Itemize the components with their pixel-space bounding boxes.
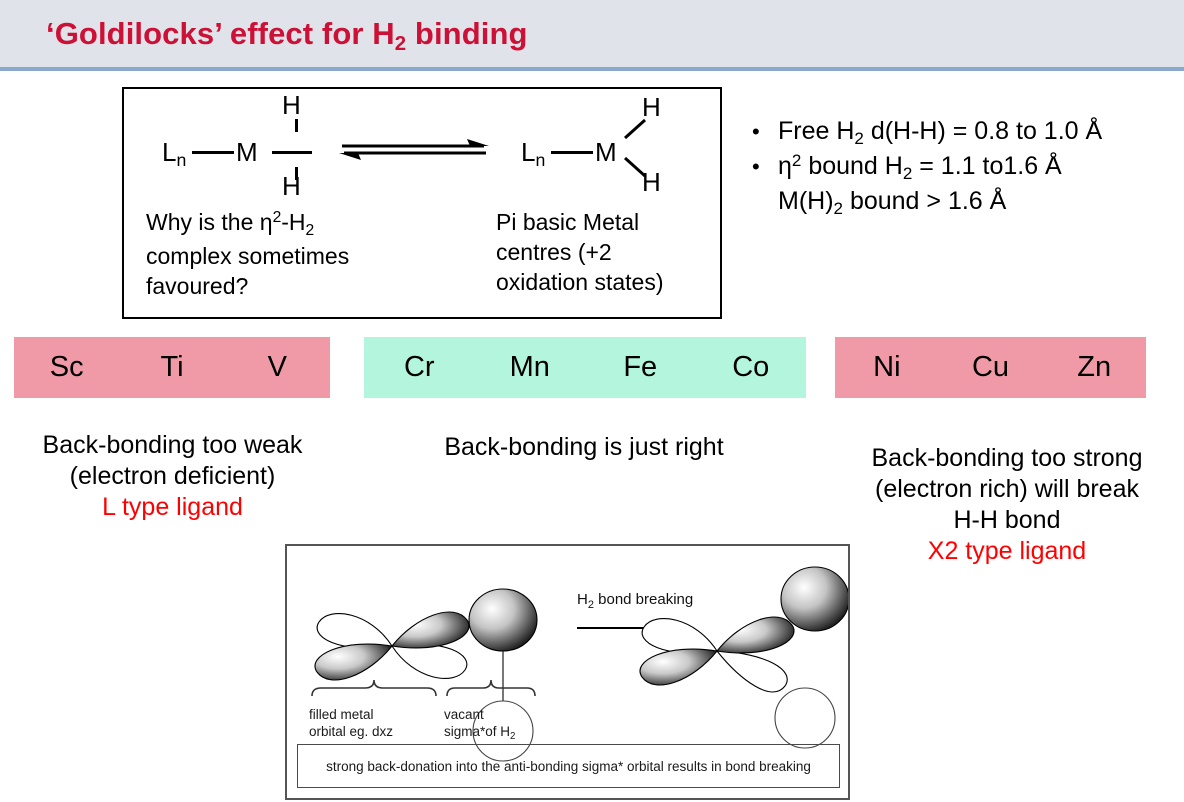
h-atom-sphere-shaded-right — [781, 567, 848, 631]
element-fe: Fe — [585, 351, 696, 384]
bullet2-eta: η — [778, 152, 792, 180]
arrow-label-h2-bond-breaking: H2 bond breaking — [577, 591, 693, 611]
d-orbital-left — [315, 612, 469, 680]
right-ligand-n: n — [535, 150, 545, 170]
element-bar-weak-backbonding: Sc Ti V — [14, 337, 330, 398]
caption-right-ligand-type: X2 type ligand — [830, 536, 1184, 567]
question-eta: η — [260, 209, 273, 235]
label-vacant-line1: vacant — [444, 706, 515, 723]
reaction-question-line3: favoured? — [146, 271, 349, 301]
bullet2cont-pre: M(H) — [778, 187, 834, 215]
element-bar-strong-backbonding: Ni Cu Zn — [835, 337, 1146, 398]
element-ni: Ni — [835, 351, 939, 384]
bullet2-post: = 1.1 to1.6 Å — [912, 152, 1061, 180]
reaction-answer-line2: centres (+2 — [496, 237, 663, 267]
d-orbital-right — [640, 617, 794, 692]
caption-left-ligand-type: L type ligand — [0, 492, 345, 523]
brace-vacant-sigma-star — [447, 680, 535, 696]
bond-ln-m-right — [551, 151, 593, 154]
caption-strong-backbonding: Back-bonding too strong (electron rich) … — [830, 443, 1184, 567]
bond-ln-m-left — [192, 151, 234, 154]
label-filled-metal-orbital: filled metal orbital eg. dxz — [309, 706, 393, 740]
right-ligand-label: Ln — [521, 137, 545, 168]
page-title-post: binding — [406, 16, 527, 51]
element-co: Co — [696, 351, 807, 384]
h-atom-sphere-white-right — [775, 688, 835, 748]
bullet2-mid: bound H — [801, 152, 902, 180]
element-cr: Cr — [364, 351, 475, 384]
bullet-text-free-h2: Free H2 d(H-H) = 0.8 to 1.0 Å — [778, 115, 1182, 150]
left-h-bottom: H — [282, 171, 301, 202]
right-metal-label: M — [595, 137, 617, 168]
label-vacant-sub: 2 — [510, 731, 515, 742]
element-mn: Mn — [475, 351, 586, 384]
caption-right-line1: Back-bonding too strong — [830, 443, 1184, 474]
bullet-text-eta2-bound: η2 bound H2 = 1.1 to1.6 Å — [778, 150, 1182, 185]
orbital-footer-caption-box: strong back-donation into the anti-bondi… — [297, 744, 840, 788]
label-vacant-line2: sigma*of H2 — [444, 723, 515, 742]
bullet-marker-icon: • — [752, 115, 778, 148]
page-title: ‘Goldilocks’ effect for H2 binding — [46, 16, 528, 52]
caption-left-line2: (electron deficient) — [0, 461, 345, 492]
bullet2cont-sub: 2 — [834, 199, 843, 218]
left-metal-label: M — [236, 137, 258, 168]
right-ligand-l: L — [521, 137, 535, 167]
element-bar-just-right: Cr Mn Fe Co — [364, 337, 806, 398]
reaction-scheme-box: Ln M H H Ln M H H Why is the η2-H2 compl… — [122, 87, 722, 319]
question-eta-sup: 2 — [273, 209, 282, 226]
left-ligand-n: n — [176, 150, 186, 170]
equilibrium-arrow — [334, 133, 494, 169]
caption-weak-backbonding: Back-bonding too weak (electron deficien… — [0, 430, 345, 523]
page-title-pre: ‘Goldilocks’ effect for H — [46, 16, 395, 51]
reaction-question-line2: complex sometimes — [146, 241, 349, 271]
bullet2-sup: 2 — [792, 151, 801, 170]
element-zn: Zn — [1042, 351, 1146, 384]
reaction-answer-line1: Pi basic Metal — [496, 207, 663, 237]
label-vacant-pre: sigma*of H — [444, 724, 510, 739]
brace-filled-metal-orbital — [312, 680, 436, 696]
page-title-subscript: 2 — [395, 32, 406, 55]
bullet1-post: d(H-H) = 0.8 to 1.0 Å — [864, 117, 1102, 145]
label-filled-metal-line1: filled metal — [309, 706, 393, 723]
left-ligand-l: L — [162, 137, 176, 167]
right-h-top: H — [642, 92, 661, 123]
orbital-footer-caption: strong back-donation into the anti-bondi… — [326, 759, 811, 774]
caption-just-right: Back-bonding is just right — [363, 432, 805, 463]
caption-mid-line1: Back-bonding is just right — [363, 432, 805, 463]
bond-m-h2-left — [272, 151, 312, 154]
reaction-question-line1: Why is the η2-H2 — [146, 207, 349, 241]
element-cu: Cu — [939, 351, 1043, 384]
bullet1-sub: 2 — [854, 129, 863, 148]
bullet-marker-icon: • — [752, 150, 778, 183]
reaction-answer-line3: oxidation states) — [496, 267, 663, 297]
question-pre: Why is the — [146, 209, 260, 235]
left-ligand-label: Ln — [162, 137, 186, 168]
slide-header: ‘Goldilocks’ effect for H2 binding — [0, 0, 1184, 71]
orbital-overlap-diagram-box: H2 bond breaking filled metal orbital eg… — [285, 544, 850, 800]
label-vacant-sigma-star: vacant sigma*of H2 — [444, 706, 515, 742]
bullet-text-mh2-bound: M(H)2 bound > 1.6 Å — [778, 185, 1182, 220]
reaction-question-text: Why is the η2-H2 complex sometimes favou… — [146, 207, 349, 301]
hh-dashed-bond-upper — [295, 119, 298, 132]
right-h-bottom: H — [642, 167, 661, 198]
label-filled-metal-line2: orbital eg. dxz — [309, 723, 393, 740]
question-post: -H — [281, 209, 305, 235]
element-v: V — [225, 351, 330, 384]
bullet1-pre: Free H — [778, 117, 854, 145]
bullet2cont-post: bound > 1.6 Å — [843, 187, 1006, 215]
caption-right-line2: (electron rich) will break — [830, 474, 1184, 505]
element-ti: Ti — [119, 351, 224, 384]
bullet-item-free-h2: • Free H2 d(H-H) = 0.8 to 1.0 Å — [752, 115, 1182, 150]
bond-length-bullet-list: • Free H2 d(H-H) = 0.8 to 1.0 Å • η2 bou… — [752, 115, 1182, 220]
bullet-item-eta2-bound: • η2 bound H2 = 1.1 to1.6 Å — [752, 150, 1182, 185]
caption-left-line1: Back-bonding too weak — [0, 430, 345, 461]
bullet2-sub: 2 — [903, 164, 912, 183]
question-h-sub: 2 — [306, 222, 315, 239]
reaction-answer-text: Pi basic Metal centres (+2 oxidation sta… — [496, 207, 663, 297]
caption-right-line3: H-H bond — [830, 505, 1184, 536]
left-h-top: H — [282, 90, 301, 121]
element-sc: Sc — [14, 351, 119, 384]
